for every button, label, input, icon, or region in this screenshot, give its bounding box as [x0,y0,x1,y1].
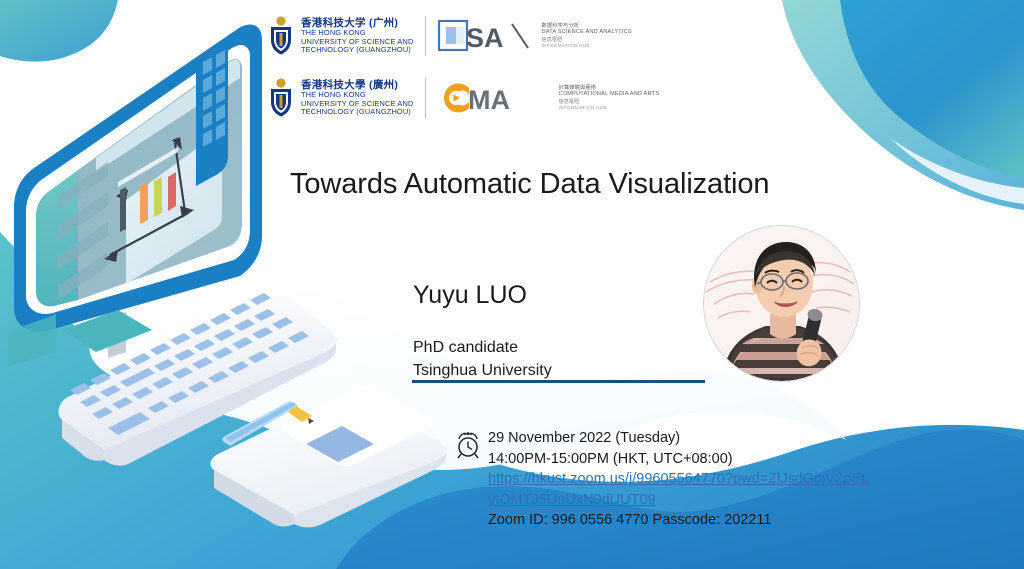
dsa-hub-text: 数据科学与分析 DATA SCIENCE AND ANALYTICS 信息枢纽 … [541,23,631,50]
svg-text:MA: MA [468,85,510,115]
logo-row-dsa: 香港科技大学 (广州) THE HONG KONG UNIVERSITY OF … [268,16,632,56]
dsa-lockup: SA 数据科学与分析 DATA SCIENCE AND ANALYTICS 信息… [438,18,631,54]
svg-text:SA: SA [466,23,504,53]
cma-logo-icon: MA [438,80,550,116]
hkust-text-cma: 香港科技大學 (廣州) THE HONG KONG UNIVERSITY OF … [301,80,413,117]
event-time: 14:00PM-15:00PM (HKT, UTC+08:00) [488,449,869,470]
dsa-logo-icon: SA [438,18,533,54]
logo-divider-dsa [425,16,426,56]
cma-name-en: COMPUTATIONAL MEDIA AND ARTS [558,91,659,98]
event-text-lines: 29 November 2022 (Tuesday) 14:00PM-15:00… [488,428,869,531]
speaker-role-line: PhD candidate [413,336,552,359]
zoom-link-line1[interactable]: https://hkust.zoom.us/j/99605564770?pwd=… [488,469,869,490]
dsa-name-en: DATA SCIENCE AND ANALYTICS [541,29,631,36]
logo-divider-cma [425,78,426,118]
hkust-text-dsa: 香港科技大学 (广州) THE HONG KONG UNIVERSITY OF … [301,18,413,55]
speaker-institution-line: Tsinghua University [413,359,552,382]
speaker-divider-rule [412,380,705,383]
deco-top-left-wave [0,0,118,62]
zoom-link-line2[interactable]: ytOMTJ5UnUxN0dUUT09 [488,490,869,511]
hkust-lockup-cma: 香港科技大學 (廣州) THE HONG KONG UNIVERSITY OF … [268,78,413,118]
dsa-sub-en: INFORMATION HUB [541,44,631,50]
speaker-name: Yuyu LUO [413,281,527,310]
event-details: 29 November 2022 (Tuesday) 14:00PM-15:00… [455,428,869,531]
cma-sub-en: INFORMATION HUB [558,106,659,112]
portrait-photo [704,226,859,381]
cma-lockup: MA 計算媒體與藝術 COMPUTATIONAL MEDIA AND ARTS … [438,80,659,116]
hkust-name-en-3: TECHNOLOGY (GUANGZHOU) [301,108,413,116]
speaker-portrait [703,225,860,382]
hkust-shield-icon [268,16,294,56]
seminar-poster: 香港科技大学 (广州) THE HONG KONG UNIVERSITY OF … [0,0,1024,569]
logo-row-cma: 香港科技大學 (廣州) THE HONG KONG UNIVERSITY OF … [268,78,659,118]
event-date: 29 November 2022 (Tuesday) [488,428,869,449]
zoom-id-passcode: Zoom ID: 996 0556 4770 Passcode: 202211 [488,510,869,531]
speaker-affiliation: PhD candidate Tsinghua University [413,336,552,382]
hkust-shield-icon [268,78,294,118]
hkust-name-en-3: TECHNOLOGY (GUANGZHOU) [301,46,413,54]
alarm-clock-icon [455,431,481,459]
cma-hub-text: 計算媒體與藝術 COMPUTATIONAL MEDIA AND ARTS 信息枢… [558,85,659,112]
page-title: Towards Automatic Data Visualization [290,168,769,201]
hkust-lockup-dsa: 香港科技大学 (广州) THE HONG KONG UNIVERSITY OF … [268,16,413,56]
